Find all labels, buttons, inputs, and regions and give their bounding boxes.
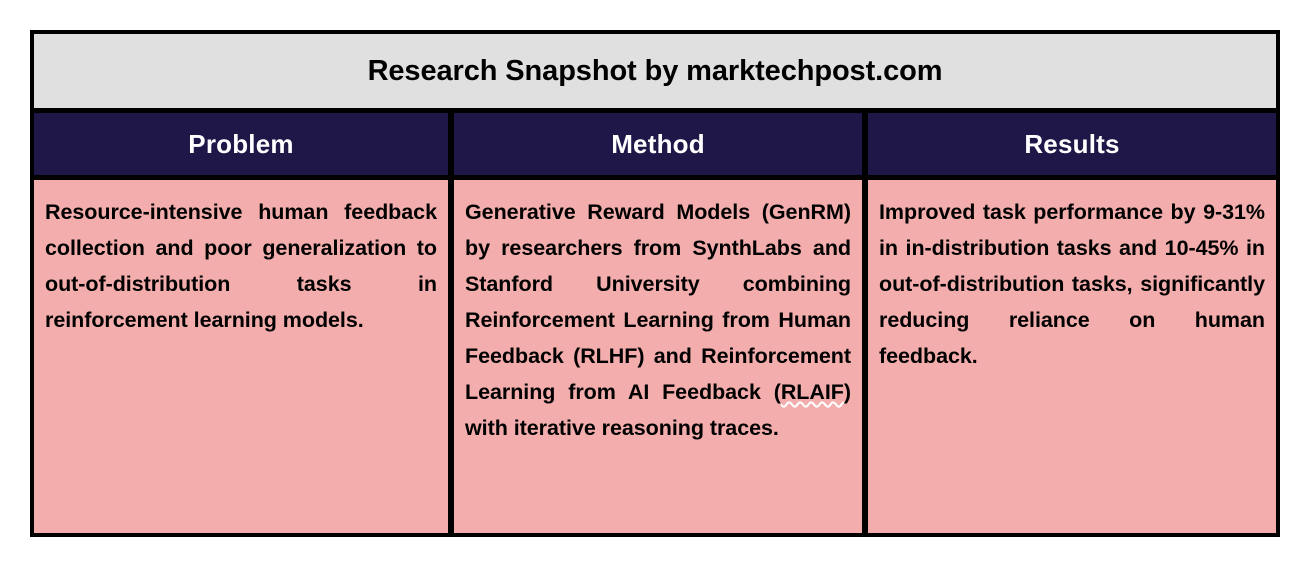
screenshot-canvas: Research Snapshot by marktechpost.com Pr… <box>0 0 1316 564</box>
page-title: Research Snapshot by marktechpost.com <box>368 55 943 88</box>
cell-method-spellcheck-token: RLAIF <box>781 380 844 404</box>
cell-method-text: Generative Reward Models (GenRM) by rese… <box>465 194 851 446</box>
column-header-method: Method <box>448 113 862 175</box>
table-body-row: Resource-intensive human feedback collec… <box>34 180 1276 533</box>
cell-results: Improved task performance by 9-31% in in… <box>862 180 1276 533</box>
research-snapshot-table: Research Snapshot by marktechpost.com Pr… <box>30 30 1280 537</box>
cell-method-text-part1: Generative Reward Models (GenRM) by rese… <box>465 200 851 404</box>
column-header-problem: Problem <box>34 113 448 175</box>
cell-method: Generative Reward Models (GenRM) by rese… <box>448 180 862 533</box>
column-header-method-label: Method <box>611 129 705 160</box>
table-title-row: Research Snapshot by marktechpost.com <box>34 34 1276 113</box>
column-header-results-label: Results <box>1024 129 1119 160</box>
column-header-problem-label: Problem <box>188 129 293 160</box>
cell-problem: Resource-intensive human feedback collec… <box>34 180 448 533</box>
table-header-row: Problem Method Results <box>34 113 1276 180</box>
cell-results-text: Improved task performance by 9-31% in in… <box>879 194 1265 374</box>
cell-problem-text: Resource-intensive human feedback collec… <box>45 194 437 338</box>
column-header-results: Results <box>862 113 1276 175</box>
